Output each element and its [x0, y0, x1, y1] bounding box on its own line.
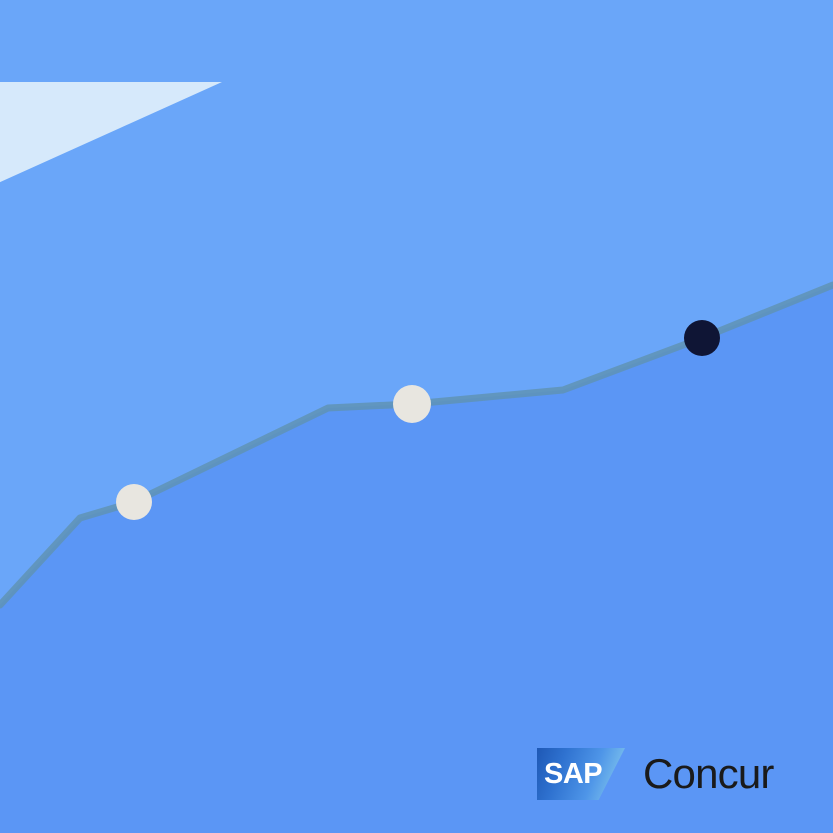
- sap-logo-mark: SAP: [537, 748, 625, 800]
- sap-wordmark: SAP: [544, 758, 602, 791]
- marker-2[interactable]: [393, 385, 431, 423]
- marker-1[interactable]: [116, 484, 152, 520]
- marker-3[interactable]: [684, 320, 720, 356]
- sap-concur-logo: SAP Concur: [537, 748, 774, 800]
- concur-wordmark: Concur: [643, 750, 774, 798]
- slide-canvas: ses c SAP Concur: [0, 0, 833, 833]
